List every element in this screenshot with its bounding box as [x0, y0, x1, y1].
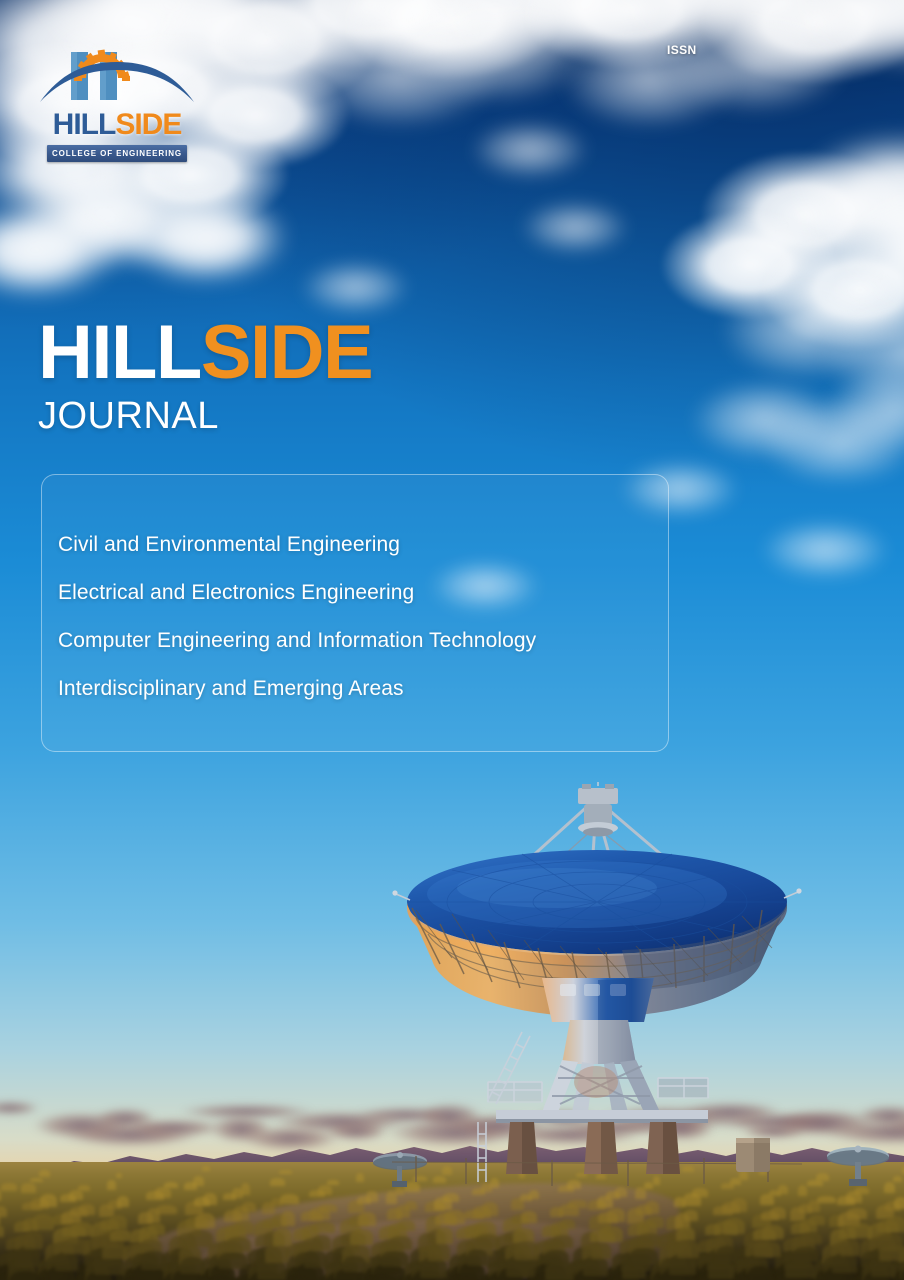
grass-tuft: [318, 1185, 332, 1195]
grass-tuft: [69, 1190, 83, 1200]
grass-tuft: [21, 1183, 36, 1192]
grass-tuft: [40, 1194, 57, 1207]
grass-tuft: [241, 1183, 250, 1194]
telescope-footings: [506, 1122, 680, 1174]
telescope-elevation-housing: [542, 978, 654, 1022]
cloud-puff: [300, 260, 410, 315]
grass-tuft: [0, 1206, 7, 1217]
grass-tuft: [116, 1173, 122, 1178]
grass-tuft: [226, 1237, 251, 1252]
grass-tuft: [187, 1230, 213, 1247]
logo-wordmark-hill: HILL: [53, 108, 116, 141]
grass-tuft: [79, 1204, 95, 1215]
grass-tuft: [684, 1210, 698, 1221]
grass-tuft: [117, 1196, 129, 1207]
cloud-puff: [470, 120, 590, 180]
telescope-feed-cabin: [578, 782, 618, 837]
grass-tuft: [242, 1202, 256, 1212]
telescope-yoke: [542, 1020, 660, 1112]
grass-tuft: [801, 1232, 822, 1244]
grass-tuft: [0, 1224, 4, 1237]
grass-tuft: [366, 1191, 378, 1202]
grass-tuft: [607, 1208, 625, 1221]
grass-tuft: [475, 1234, 500, 1249]
telescope-platform: [496, 1110, 708, 1119]
subject-item: Interdisciplinary and Emerging Areas: [58, 665, 668, 713]
journal-subtitle: JOURNAL: [38, 397, 372, 435]
grass-tuft: [304, 1250, 327, 1268]
grass-tuft: [343, 1256, 366, 1272]
grass-tuft: [109, 1215, 127, 1229]
grass-tuft: [9, 1271, 41, 1280]
grass-tuft: [110, 1229, 131, 1241]
grass-tuft: [832, 1253, 857, 1272]
grass-tuft: [234, 1221, 254, 1234]
grass-tuft: [708, 1260, 734, 1278]
grass-tuft: [327, 1180, 339, 1185]
grass-tuft: [280, 1194, 299, 1204]
grass-tuft: [545, 1261, 574, 1280]
grass-tuft: [436, 1227, 453, 1244]
grass-tuft: [785, 1261, 816, 1278]
grass-tuft: [552, 1235, 573, 1248]
grass-tuft: [676, 1227, 695, 1241]
cloud-puff: [520, 200, 630, 255]
grass-tuft: [164, 1182, 178, 1188]
grass-tuft: [646, 1216, 664, 1227]
subject-item: Computer Engineering and Information Tec…: [58, 617, 668, 665]
grass-tuft: [32, 1214, 54, 1230]
grass-tuft: [817, 1196, 836, 1203]
grass-tuft: [202, 1166, 210, 1171]
cloud-puff: [660, 10, 850, 115]
grass-tuft: [793, 1247, 819, 1262]
grass-tuft: [273, 1228, 292, 1246]
grass-tuft: [78, 1185, 90, 1191]
grass-tuft: [591, 1242, 611, 1260]
issn-label: ISSN: [667, 43, 697, 57]
grass-tuft: [848, 1223, 872, 1238]
grass-tuft: [218, 1252, 248, 1269]
grass-tuft: [319, 1204, 337, 1212]
grass-tuft: [141, 1251, 167, 1270]
grass-tuft: [1, 1183, 17, 1190]
grass-tuft: [350, 1229, 373, 1245]
grass-tuft: [356, 1173, 364, 1182]
grass-tuft: [840, 1239, 860, 1256]
logo-mark: [38, 38, 196, 110]
grass-tuft: [71, 1222, 93, 1236]
grass-tuft: [645, 1201, 659, 1214]
grass-tuft: [94, 1258, 125, 1274]
grass-tuft: [24, 1231, 43, 1249]
grass-tuft: [754, 1241, 781, 1258]
journal-title-hill: HILL: [38, 310, 201, 395]
grass-tuft: [444, 1210, 465, 1224]
grass-tuft: [428, 1242, 450, 1261]
grass-tuft: [886, 1216, 904, 1231]
journal-cover: HILLSIDE COLLEGE OF ENGINEERING ISSN HIL…: [0, 0, 904, 1280]
grass-tuft: [809, 1215, 825, 1225]
grass-tuft: [63, 1238, 90, 1254]
cloud-puff: [120, 190, 290, 285]
grass-tuft: [770, 1207, 786, 1219]
grass-tuft: [281, 1211, 295, 1226]
grass-tuft: [30, 1178, 43, 1183]
grass-tuft: [180, 1257, 205, 1274]
grass-tuft: [879, 1245, 904, 1260]
grass-tuft: [630, 1248, 658, 1264]
grass-tuft: [638, 1233, 661, 1247]
grass-tuft: [381, 1251, 409, 1267]
subject-item: Civil and Environmental Engineering: [58, 521, 668, 569]
logo-wordmark-side: SIDE: [115, 108, 181, 141]
grass-tuft: [16, 1246, 40, 1266]
logo-tagline: COLLEGE OF ENGINEERING: [47, 145, 187, 162]
journal-title: HILLSIDE: [38, 315, 372, 391]
grass-tuft: [560, 1219, 575, 1230]
grass-tuft: [871, 1259, 895, 1276]
subject-scope-box: Civil and Environmental Engineering Elec…: [41, 474, 669, 752]
grass-tuft: [622, 1262, 646, 1280]
distant-dish-far-right: [822, 1142, 892, 1192]
grass-tuft: [521, 1211, 537, 1223]
grass-tuft: [723, 1218, 745, 1234]
grass-tuft: [677, 1240, 699, 1259]
equipment-tank: [736, 1138, 770, 1172]
grass-tuft: [193, 1176, 204, 1186]
grass-tuft: [405, 1201, 417, 1210]
grass-tuft: [467, 1249, 488, 1266]
cloud-puff: [760, 520, 890, 580]
grass-tuft: [747, 1266, 773, 1280]
grass-tuft: [894, 1197, 904, 1209]
grass-tuft: [203, 1193, 217, 1205]
grass-tuft: [311, 1222, 335, 1233]
grass-tuft: [847, 1208, 867, 1218]
grass-tuft: [893, 1176, 902, 1182]
grass-tuft: [716, 1246, 738, 1262]
grass-tuft: [358, 1212, 376, 1226]
grass-tuft: [389, 1236, 412, 1250]
masthead: HILLSIDE JOURNAL: [38, 315, 372, 435]
grass-tuft: [279, 1170, 292, 1174]
grass-tuft: [312, 1235, 331, 1251]
grass-tuft: [155, 1187, 171, 1198]
radio-telescope: [392, 782, 802, 1202]
grass-tuft: [156, 1205, 177, 1215]
grass-tuft: [102, 1244, 128, 1258]
horizon-cloud: [325, 1122, 388, 1141]
grass-tuft: [39, 1170, 50, 1177]
grass-tuft: [599, 1226, 623, 1242]
grass-tuft: [514, 1241, 539, 1261]
logo-wordmark: HILLSIDE: [38, 110, 196, 140]
grass-tuft: [148, 1223, 165, 1235]
horizon-cloud: [0, 1101, 40, 1115]
hillside-college-logo[interactable]: HILLSIDE COLLEGE OF ENGINEERING: [38, 38, 196, 173]
grass-tuft: [397, 1220, 415, 1232]
journal-title-side: SIDE: [201, 310, 372, 395]
grass-tuft: [107, 1180, 116, 1190]
grass-tuft: [762, 1225, 784, 1239]
grass-tuft: [55, 1252, 78, 1270]
grass-tuft: [195, 1213, 215, 1228]
subject-item: Electrical and Electronics Engineering: [58, 569, 668, 617]
grass-tuft: [482, 1202, 498, 1216]
grass-tuft: [265, 1243, 289, 1263]
grass-tuft: [270, 1178, 285, 1187]
